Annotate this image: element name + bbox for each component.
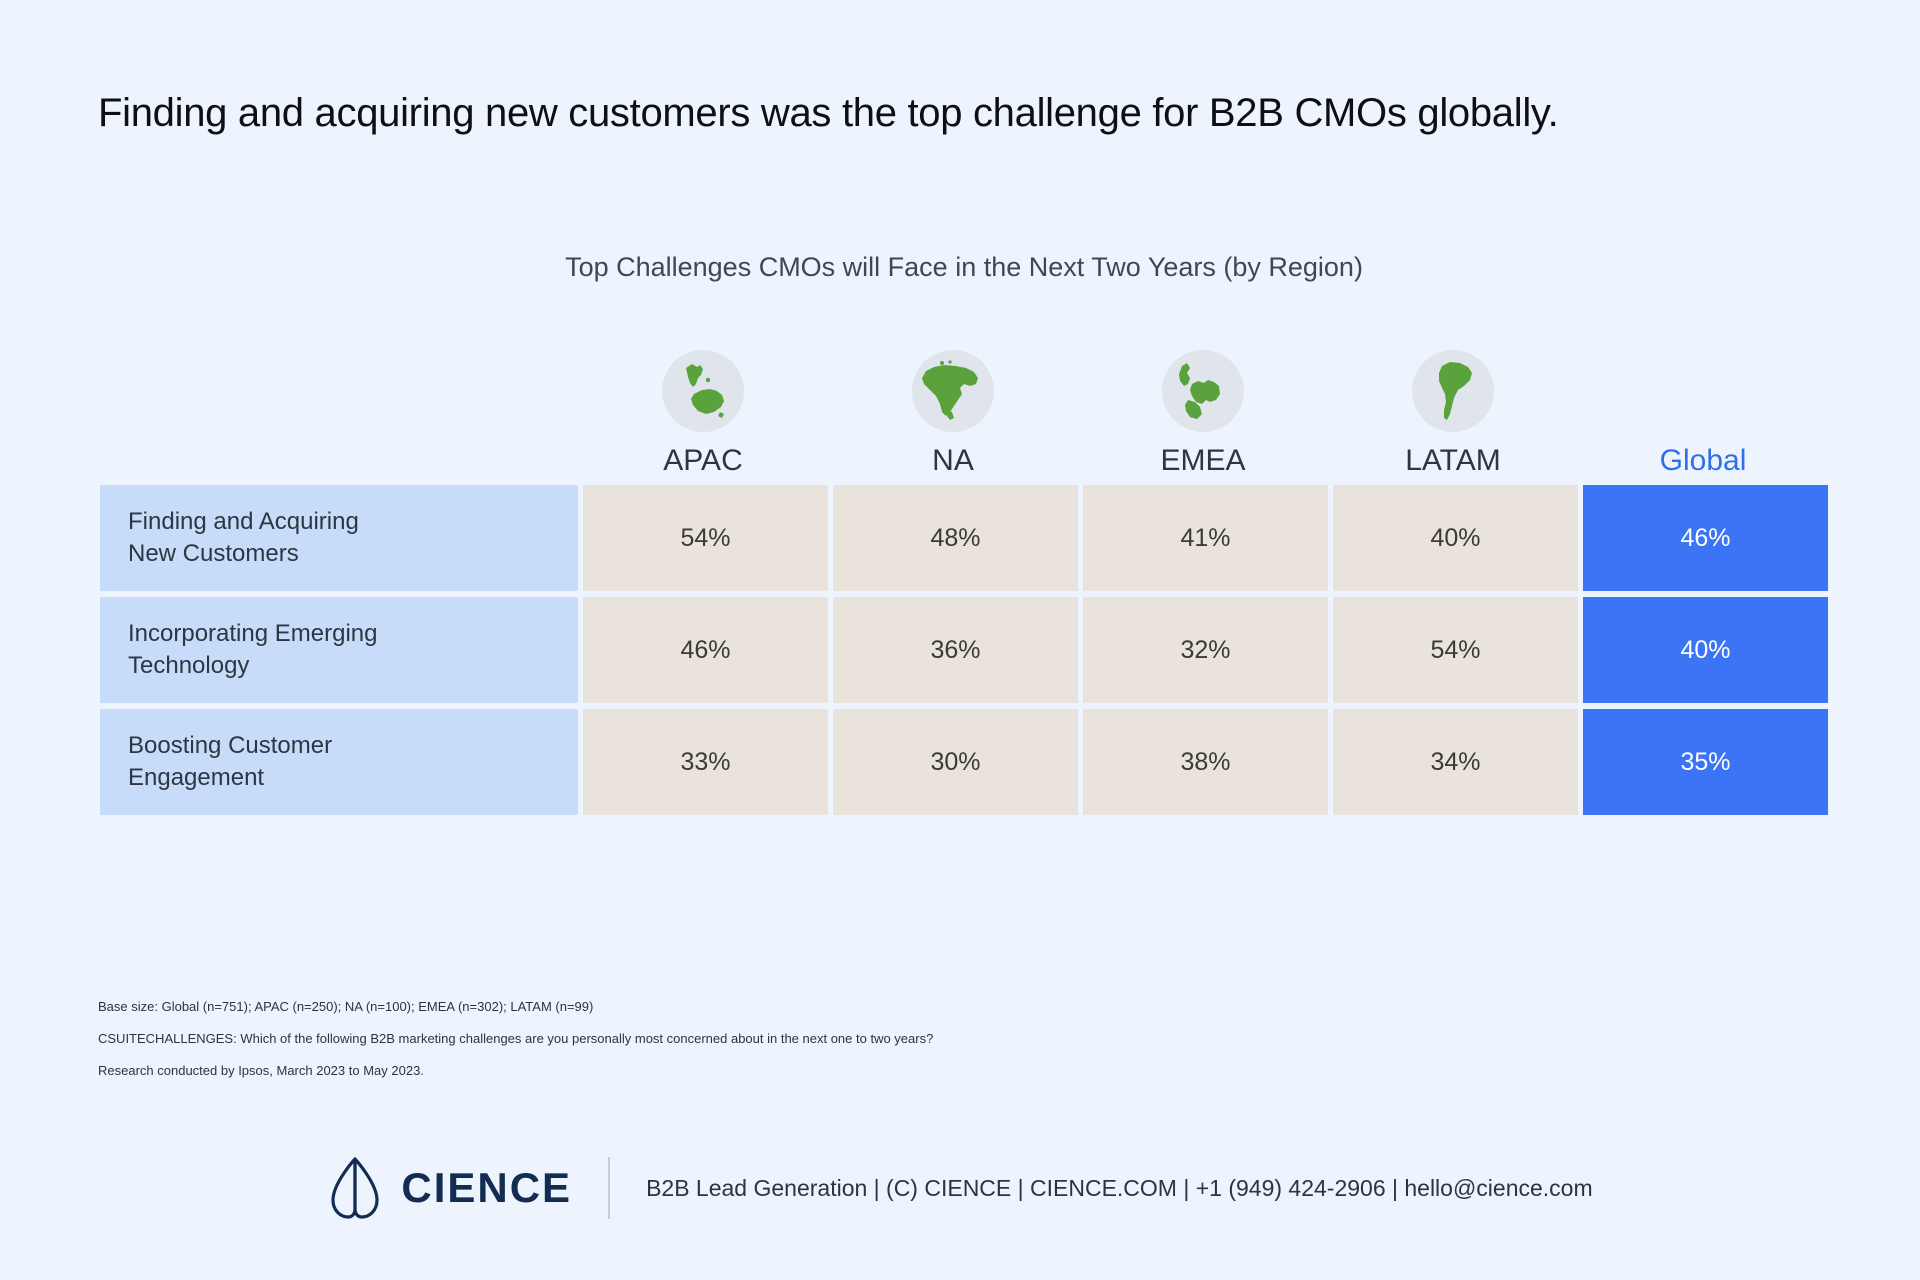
cell-na: 48% — [828, 485, 1078, 591]
cell-emea: 32% — [1078, 597, 1328, 703]
row-label-line2: Technology — [128, 652, 249, 679]
footnotes: Base size: Global (n=751); APAC (n=250);… — [98, 1000, 1298, 1096]
row-label-line1: Boosting Customer — [128, 732, 332, 759]
row-label-line1: Finding and Acquiring — [128, 508, 359, 535]
table-row: Finding and Acquiring New Customers 54% … — [100, 485, 1828, 591]
globe-na-icon — [912, 350, 994, 432]
column-header-global: Global — [1578, 320, 1828, 480]
column-header-label: LATAM — [1405, 446, 1501, 480]
globe-emea-icon — [1162, 350, 1244, 432]
chart-subtitle: Top Challenges CMOs will Face in the Nex… — [100, 252, 1828, 283]
header-label-spacer — [100, 320, 578, 480]
table-row: Incorporating Emerging Technology 46% 36… — [100, 597, 1828, 703]
globe-latam-icon — [1412, 350, 1494, 432]
column-header-latam: LATAM — [1328, 320, 1578, 480]
row-label: Boosting Customer Engagement — [100, 709, 578, 815]
cell-na: 36% — [828, 597, 1078, 703]
globe-apac-icon — [662, 350, 744, 432]
row-label-line2: New Customers — [128, 540, 299, 567]
cell-global: 46% — [1578, 485, 1828, 591]
column-header-na: NA — [828, 320, 1078, 480]
column-header-label: NA — [932, 446, 974, 480]
column-header-emea: EMEA — [1078, 320, 1328, 480]
cell-emea: 38% — [1078, 709, 1328, 815]
cell-apac: 33% — [578, 709, 828, 815]
footer-divider — [608, 1157, 610, 1219]
cell-apac: 54% — [578, 485, 828, 591]
column-header-apac: APAC — [578, 320, 828, 480]
footnote-research: Research conducted by Ipsos, March 2023 … — [98, 1064, 1298, 1077]
cell-apac: 46% — [578, 597, 828, 703]
footnote-question: CSUITECHALLENGES: Which of the following… — [98, 1032, 1298, 1045]
row-label: Finding and Acquiring New Customers — [100, 485, 578, 591]
column-header-label: Global — [1660, 446, 1747, 480]
cell-latam: 54% — [1328, 597, 1578, 703]
table-header-row: APAC NA — [100, 320, 1828, 480]
column-header-label: EMEA — [1160, 446, 1245, 480]
cience-logo-icon — [327, 1157, 383, 1219]
cell-global: 40% — [1578, 597, 1828, 703]
cell-na: 30% — [828, 709, 1078, 815]
row-label: Incorporating Emerging Technology — [100, 597, 578, 703]
row-label-line2: Engagement — [128, 764, 264, 791]
cell-global: 35% — [1578, 709, 1828, 815]
footnote-base-size: Base size: Global (n=751); APAC (n=250);… — [98, 1000, 1298, 1013]
cience-logo: CIENCE — [327, 1157, 572, 1219]
infographic-page: Finding and acquiring new customers was … — [0, 0, 1920, 1280]
page-title: Finding and acquiring new customers was … — [98, 88, 1858, 138]
row-label-line1: Incorporating Emerging — [128, 620, 377, 647]
challenges-table: Finding and Acquiring New Customers 54% … — [100, 485, 1828, 815]
column-header-label: APAC — [663, 446, 742, 480]
cell-latam: 34% — [1328, 709, 1578, 815]
cell-latam: 40% — [1328, 485, 1578, 591]
page-footer: CIENCE B2B Lead Generation | (C) CIENCE … — [0, 1148, 1920, 1228]
cell-emea: 41% — [1078, 485, 1328, 591]
table-row: Boosting Customer Engagement 33% 30% 38%… — [100, 709, 1828, 815]
cience-logo-wordmark: CIENCE — [401, 1164, 572, 1212]
footer-contact: B2B Lead Generation | (C) CIENCE | CIENC… — [646, 1175, 1593, 1202]
